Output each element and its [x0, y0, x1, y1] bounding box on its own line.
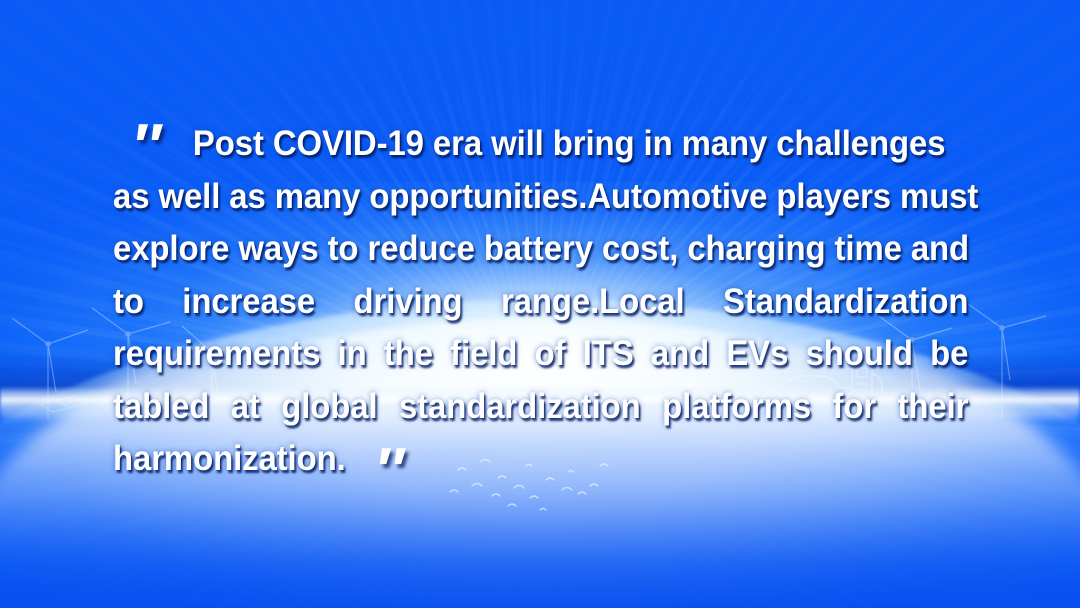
quote-word: requirements	[113, 328, 320, 381]
quote-word: the	[384, 328, 433, 381]
quote-word: of	[535, 328, 566, 381]
quote-word: driving	[354, 276, 463, 329]
quote-word: should	[806, 328, 913, 381]
quote-line-6: tabled at global standardization platfor…	[113, 381, 968, 434]
quote-line-4: to increase driving range.Local Standard…	[113, 276, 968, 329]
quote-text-block: Post COVID-19 era will bring in many cha…	[113, 118, 969, 486]
quotation-slide: ″ ″ Post COVID-19 era will bring in many…	[0, 0, 1080, 608]
open-quote-mark: ″	[131, 116, 157, 178]
quote-word: at	[231, 381, 260, 434]
quote-line-3: explore ways to reduce battery cost, cha…	[113, 223, 968, 276]
quote-word: their	[898, 381, 969, 434]
quote-word: increase	[182, 276, 315, 329]
close-quote-mark: ″	[374, 440, 400, 502]
quote-word: Standardization	[723, 276, 968, 329]
quote-word: global	[281, 381, 377, 434]
quote-word: ITS	[583, 328, 634, 381]
quote-word: EVs	[726, 328, 788, 381]
quote-word: range.Local	[501, 276, 685, 329]
quote-word: be	[930, 328, 968, 381]
quote-line-1: Post COVID-19 era will bring in many cha…	[113, 118, 1048, 171]
quote-word: standardization	[399, 381, 641, 434]
quote-word: to	[113, 276, 144, 329]
quote-word: field	[450, 328, 517, 381]
quote-line-5: requirements in the field of ITS and EVs…	[113, 328, 968, 381]
quote-word: platforms	[662, 381, 811, 434]
quote-word: for	[833, 381, 877, 434]
quote-line-7: harmonization.	[113, 433, 968, 486]
quote-word: and	[651, 328, 709, 381]
quote-word: in	[338, 328, 367, 381]
quote-line-2: as well as many opportunities.Automotive…	[113, 171, 968, 224]
quote-word: tabled	[113, 381, 209, 434]
